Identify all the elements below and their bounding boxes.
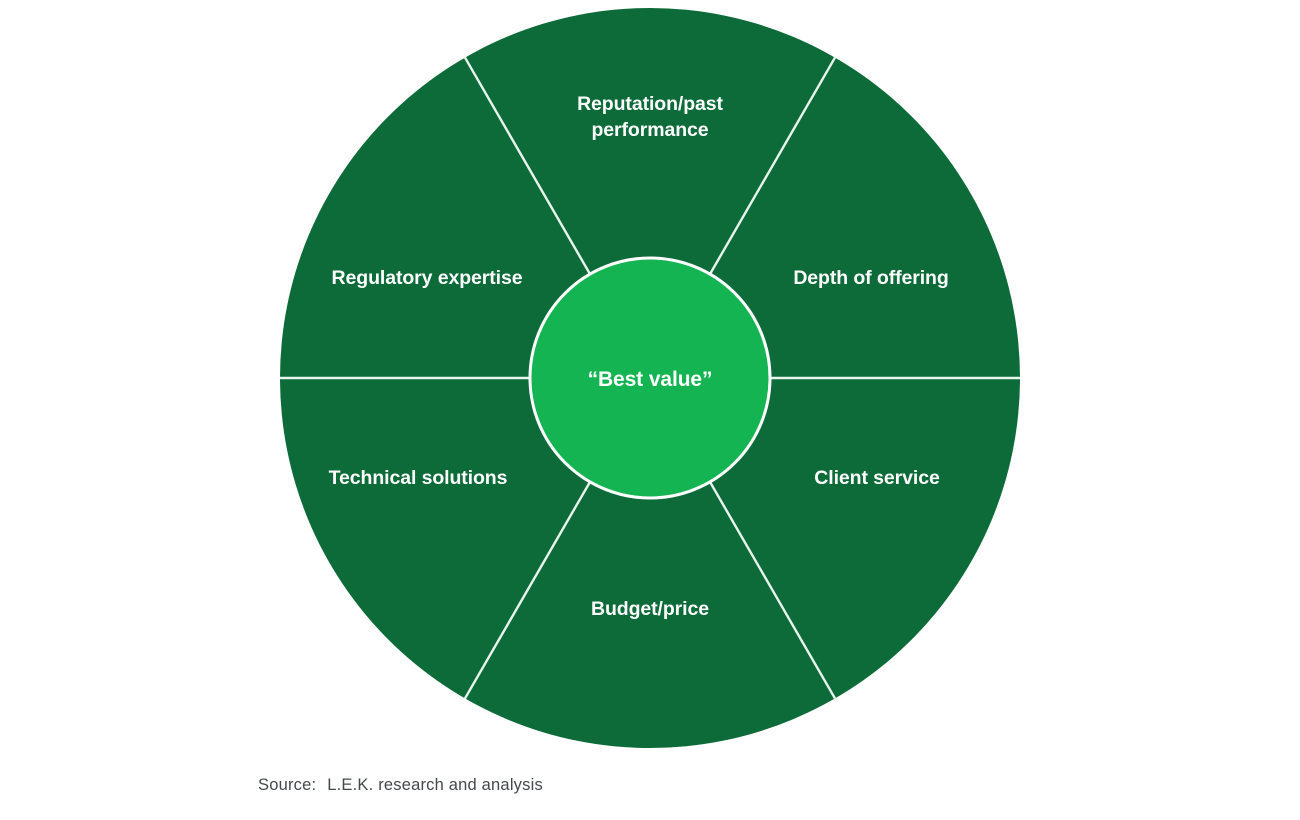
wheel-diagram: Reputation/past performance Depth of off… [0, 0, 1300, 820]
segment-label-budget-price: Budget/price [591, 598, 709, 620]
segment-label-regulatory-expertise: Regulatory expertise [332, 267, 523, 289]
segment-label-technical-solutions: Technical solutions [329, 467, 508, 489]
segment-label-reputation-line1: Reputation/past [577, 93, 723, 115]
center-hub-label: “Best value” [588, 368, 713, 391]
source-text: L.E.K. research and analysis [327, 776, 543, 795]
segment-label-depth-of-offering: Depth of offering [793, 267, 948, 289]
diagram-canvas: Reputation/past performance Depth of off… [0, 0, 1300, 820]
source-label: Source: [258, 776, 316, 795]
segment-label-reputation-line2: performance [591, 119, 708, 141]
segment-label-client-service: Client service [814, 467, 940, 489]
source-note: Source: L.E.K. research and analysis [258, 776, 543, 795]
